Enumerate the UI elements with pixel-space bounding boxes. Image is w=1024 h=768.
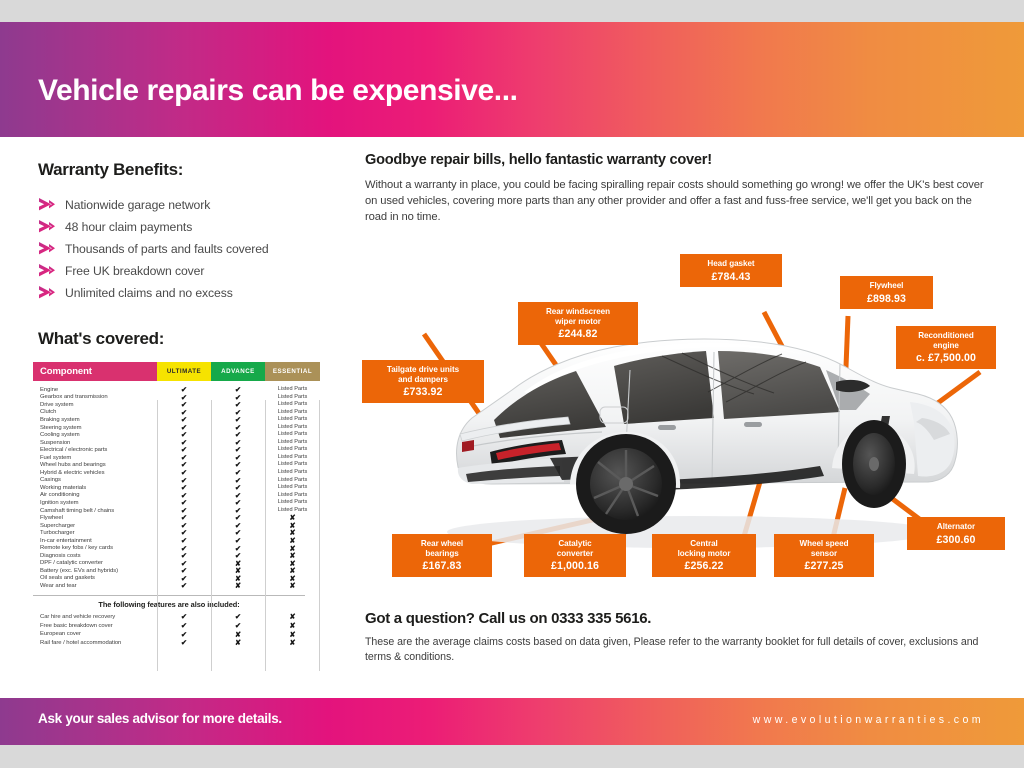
callout-label: Tailgate drive units bbox=[387, 365, 459, 374]
component-name: Turbocharger bbox=[33, 530, 157, 536]
component-name: Engine bbox=[33, 387, 157, 393]
table-row: Camshaft timing belt / chains✔✔Listed Pa… bbox=[33, 507, 320, 515]
component-name: Camshaft timing belt / chains bbox=[33, 508, 157, 514]
cell-text: Listed Parts bbox=[278, 493, 308, 499]
component-name: Electrical / electronic parts bbox=[33, 447, 157, 453]
table-cell: Listed Parts bbox=[265, 417, 320, 423]
table-cell: Listed Parts bbox=[265, 410, 320, 416]
component-name: Oil seals and gaskets bbox=[33, 575, 157, 581]
table-row: Engine✔✔Listed Parts bbox=[33, 386, 320, 394]
callout-price: £244.82 bbox=[525, 328, 631, 341]
callout-label-2: and dampers bbox=[398, 375, 448, 384]
cell-text: Listed Parts bbox=[278, 410, 308, 416]
right-column: Goodbye repair bills, hello fantastic wa… bbox=[365, 152, 990, 226]
callout-label-2: locking motor bbox=[678, 549, 731, 558]
table-row: Clutch✔✔Listed Parts bbox=[33, 409, 320, 417]
cell-text: Listed Parts bbox=[278, 447, 308, 453]
cell-text: Listed Parts bbox=[278, 402, 308, 408]
table-cell: Listed Parts bbox=[265, 432, 320, 438]
table-cell: Listed Parts bbox=[265, 447, 320, 453]
chevron-right-icon bbox=[38, 242, 55, 255]
callout-label: Reconditioned bbox=[918, 331, 974, 340]
callout-label-2: bearings bbox=[425, 549, 458, 558]
table-row: Diagnosis costs✔✔✘ bbox=[33, 552, 320, 560]
callout-alternator[interactable]: Alternator£300.60 bbox=[907, 517, 1005, 550]
tick-icon: ✔ bbox=[181, 582, 187, 590]
table-cell: Listed Parts bbox=[265, 493, 320, 499]
right-paragraph: Without a warranty in place, you could b… bbox=[365, 178, 990, 226]
table-row: Fuel system✔✔Listed Parts bbox=[33, 454, 320, 462]
callout-reconditioned-engine[interactable]: Reconditionedenginec. £7,500.00 bbox=[896, 326, 996, 369]
component-name: Ignition system bbox=[33, 500, 157, 506]
table-cell: ✘ bbox=[265, 582, 320, 590]
callout-flywheel[interactable]: Flywheel£898.93 bbox=[840, 276, 933, 309]
table-col-ultimate: ULTIMATE bbox=[157, 362, 211, 381]
chevron-right-icon bbox=[38, 198, 55, 211]
component-name: Steering system bbox=[33, 425, 157, 431]
page-title: Vehicle repairs can be expensive... bbox=[38, 74, 518, 108]
table-cell: Listed Parts bbox=[265, 485, 320, 491]
footer-website[interactable]: www.evolutionwarranties.com bbox=[753, 714, 984, 726]
component-name: Supercharger bbox=[33, 523, 157, 529]
callout-label: Head gasket bbox=[707, 259, 754, 268]
chevron-right-icon bbox=[38, 264, 55, 277]
cell-text: Listed Parts bbox=[278, 462, 308, 468]
component-name: DPF / catalytic converter bbox=[33, 560, 157, 566]
also-included-title: The following features are also included… bbox=[33, 596, 305, 613]
component-name: Fuel system bbox=[33, 455, 157, 461]
cell-text: Listed Parts bbox=[278, 395, 308, 401]
warranty-benefits-title: Warranty Benefits: bbox=[38, 160, 338, 180]
table-cell: Listed Parts bbox=[265, 455, 320, 461]
cell-text: Listed Parts bbox=[278, 432, 308, 438]
chevron-right-icon bbox=[38, 286, 55, 299]
table-cell: Listed Parts bbox=[265, 500, 320, 506]
callout-label: Wheel speed bbox=[800, 539, 849, 548]
table-cell: ✔ bbox=[157, 582, 211, 590]
also-included-body: Car hire and vehicle recovery✔✔✘Free bas… bbox=[33, 613, 320, 647]
left-column: Warranty Benefits: Nationwide garage net… bbox=[38, 160, 338, 349]
component-name: Clutch bbox=[33, 409, 157, 415]
callout-label-2: wiper motor bbox=[555, 317, 601, 326]
callout-rear-windscreen-wiper-motor[interactable]: Rear windscreenwiper motor£244.82 bbox=[518, 302, 638, 345]
table-row: Wheel hubs and bearings✔✔Listed Parts bbox=[33, 461, 320, 469]
benefit-label: 48 hour claim payments bbox=[65, 220, 192, 234]
callout-label-2: sensor bbox=[811, 549, 837, 558]
table-row: Cooling system✔✔Listed Parts bbox=[33, 431, 320, 439]
callout-label-2: engine bbox=[933, 341, 959, 350]
table-row: Supercharger✔✔✘ bbox=[33, 522, 320, 530]
car-cost-diagram: Tailgate drive unitsand dampers£733.92 R… bbox=[362, 252, 1022, 600]
table-cell: Listed Parts bbox=[265, 470, 320, 476]
callout-label: Central bbox=[690, 539, 718, 548]
benefit-label: Free UK breakdown cover bbox=[65, 264, 204, 278]
callout-wheel-speed-sensor[interactable]: Wheel speedsensor£277.25 bbox=[774, 534, 874, 577]
cell-text: Listed Parts bbox=[278, 417, 308, 423]
table-header-row: Component ULTIMATE ADVANCE ESSENTIAL bbox=[33, 362, 320, 381]
table-row: Wear and tear✔✘✘ bbox=[33, 582, 320, 590]
table-row: Air conditioning✔✔Listed Parts bbox=[33, 492, 320, 500]
table-col-essential: ESSENTIAL bbox=[265, 362, 320, 381]
callout-tailgate-drive-units[interactable]: Tailgate drive unitsand dampers£733.92 bbox=[362, 360, 484, 403]
cell-text: Listed Parts bbox=[278, 455, 308, 461]
callout-rear-wheel-bearings[interactable]: Rear wheelbearings£167.83 bbox=[392, 534, 492, 577]
cell-text: Listed Parts bbox=[278, 470, 308, 476]
callout-price: c. £7,500.00 bbox=[903, 352, 989, 365]
callout-price: £1,000.16 bbox=[531, 560, 619, 573]
table-row: Working materials✔✔Listed Parts bbox=[33, 484, 320, 492]
callout-price: £256.22 bbox=[659, 560, 749, 573]
callout-label: Catalytic bbox=[558, 539, 591, 548]
callout-label: Rear wheel bbox=[421, 539, 463, 548]
callout-price: £898.93 bbox=[847, 293, 926, 306]
callout-label: Flywheel bbox=[870, 281, 904, 290]
header-banner: Vehicle repairs can be expensive... bbox=[0, 22, 1024, 137]
table-row: Casings✔✔Listed Parts bbox=[33, 477, 320, 485]
component-name: Drive system bbox=[33, 402, 157, 408]
callout-label-2: converter bbox=[557, 549, 593, 558]
table-row: Braking system✔✔Listed Parts bbox=[33, 416, 320, 424]
table-cell: Listed Parts bbox=[265, 478, 320, 484]
table-row: Hybrid & electric vehicles✔✔Listed Parts bbox=[33, 469, 320, 477]
warranty-benefits-list: Nationwide garage network48 hour claim p… bbox=[38, 194, 338, 303]
callout-price: £167.83 bbox=[399, 560, 485, 573]
callout-price: £784.43 bbox=[687, 271, 775, 284]
table-cell: Listed Parts bbox=[265, 462, 320, 468]
chevron-right-icon bbox=[38, 220, 55, 233]
benefit-label: Unlimited claims and no excess bbox=[65, 286, 233, 300]
benefit-item: Nationwide garage network bbox=[38, 194, 338, 215]
question-block: Got a question? Call us on 0333 335 5616… bbox=[365, 610, 985, 666]
component-name: Diagnosis costs bbox=[33, 553, 157, 559]
cell-text: Listed Parts bbox=[278, 440, 308, 446]
component-name: Air conditioning bbox=[33, 492, 157, 498]
whats-covered-title: What's covered: bbox=[38, 329, 338, 349]
component-name: Battery (exc. EVs and hybrids) bbox=[33, 568, 157, 574]
table-cell: Listed Parts bbox=[265, 387, 320, 393]
component-name: Suspension bbox=[33, 440, 157, 446]
table-row: Flywheel✔✔✘ bbox=[33, 514, 320, 522]
cross-icon: ✘ bbox=[235, 582, 241, 590]
table-row: Battery (exc. EVs and hybrids)✔✘✘ bbox=[33, 567, 320, 575]
question-disclaimer: These are the average claims costs based… bbox=[365, 635, 985, 666]
table-row: Remote key fobs / key cards✔✔✘ bbox=[33, 544, 320, 552]
component-name: Braking system bbox=[33, 417, 157, 423]
cover-comparison-table: Component ULTIMATE ADVANCE ESSENTIAL Eng… bbox=[33, 362, 320, 647]
component-name: Working materials bbox=[33, 485, 157, 491]
poster-page: Vehicle repairs can be expensive... Warr… bbox=[0, 0, 1024, 768]
callout-central-locking-motor[interactable]: Centrallocking motor£256.22 bbox=[652, 534, 756, 577]
component-name: Remote key fobs / key cards bbox=[33, 545, 157, 551]
table-row: Steering system✔✔Listed Parts bbox=[33, 424, 320, 432]
component-name: Cooling system bbox=[33, 432, 157, 438]
component-name: Flywheel bbox=[33, 515, 157, 521]
callout-price: £300.60 bbox=[914, 534, 998, 547]
table-row: Turbocharger✔✔✘ bbox=[33, 529, 320, 537]
callout-label: Rear windscreen bbox=[546, 307, 610, 316]
table-row: Suspension✔✔Listed Parts bbox=[33, 439, 320, 447]
table-row: Oil seals and gaskets✔✘✘ bbox=[33, 575, 320, 583]
table-body: Engine✔✔Listed PartsGearbox and transmis… bbox=[33, 381, 320, 590]
table-col-advance: ADVANCE bbox=[211, 362, 265, 381]
component-name: Wheel hubs and bearings bbox=[33, 462, 157, 468]
question-headline: Got a question? Call us on 0333 335 5616… bbox=[365, 610, 985, 627]
benefit-item: Unlimited claims and no excess bbox=[38, 282, 338, 303]
table-row: Ignition system✔✔Listed Parts bbox=[33, 499, 320, 507]
table-col-component: Component bbox=[33, 362, 157, 381]
table-cell: Listed Parts bbox=[265, 440, 320, 446]
component-name: In-car entertainment bbox=[33, 538, 157, 544]
benefit-item: Thousands of parts and faults covered bbox=[38, 238, 338, 259]
callout-head-gasket[interactable]: Head gasket£784.43 bbox=[680, 254, 782, 287]
benefit-label: Thousands of parts and faults covered bbox=[65, 242, 269, 256]
cell-text: Listed Parts bbox=[278, 478, 308, 484]
cross-icon: ✘ bbox=[289, 582, 295, 590]
table-row: Drive system✔✔Listed Parts bbox=[33, 401, 320, 409]
callout-price: £733.92 bbox=[369, 386, 477, 399]
table-row: Electrical / electronic parts✔✔Listed Pa… bbox=[33, 446, 320, 454]
table-cell: Listed Parts bbox=[265, 425, 320, 431]
component-name: Gearbox and transmission bbox=[33, 394, 157, 400]
also-column-dividers bbox=[33, 613, 320, 671]
right-headline: Goodbye repair bills, hello fantastic wa… bbox=[365, 152, 990, 168]
table-cell: ✘ bbox=[211, 582, 265, 590]
cell-text: Listed Parts bbox=[278, 387, 308, 393]
table-row: Gearbox and transmission✔✔Listed Parts bbox=[33, 394, 320, 402]
benefit-label: Nationwide garage network bbox=[65, 198, 210, 212]
table-row: DPF / catalytic converter✔✘✘ bbox=[33, 560, 320, 568]
footer-banner: Ask your sales advisor for more details.… bbox=[0, 698, 1024, 745]
cell-text: Listed Parts bbox=[278, 485, 308, 491]
benefit-item: 48 hour claim payments bbox=[38, 216, 338, 237]
callout-label: Alternator bbox=[937, 522, 975, 531]
component-name: Hybrid & electric vehicles bbox=[33, 470, 157, 476]
cell-text: Listed Parts bbox=[278, 425, 308, 431]
callout-price: £277.25 bbox=[781, 560, 867, 573]
component-name: Casings bbox=[33, 477, 157, 483]
component-name: Wear and tear bbox=[33, 583, 157, 589]
table-cell: Listed Parts bbox=[265, 395, 320, 401]
table-row: In-car entertainment✔✔✘ bbox=[33, 537, 320, 545]
cell-text: Listed Parts bbox=[278, 500, 308, 506]
benefit-item: Free UK breakdown cover bbox=[38, 260, 338, 281]
footer-cta: Ask your sales advisor for more details. bbox=[38, 711, 282, 726]
callout-catalytic-converter[interactable]: Catalyticconverter£1,000.16 bbox=[524, 534, 626, 577]
table-cell: Listed Parts bbox=[265, 402, 320, 408]
